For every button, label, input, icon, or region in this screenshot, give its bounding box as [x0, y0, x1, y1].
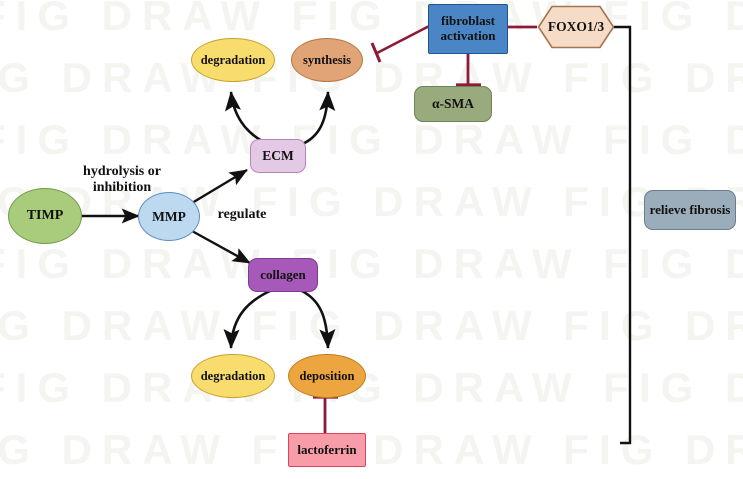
edge-ecm-to-synthesis [300, 92, 328, 145]
node-lactoferrin[interactable]: lactoferrin [288, 433, 366, 467]
node-ecm-degradation[interactable]: degradation [191, 38, 275, 82]
edge-label-regulate: regulate [206, 207, 278, 223]
node-ecm-synthesis[interactable]: synthesis [291, 38, 363, 82]
node-collagen-deposition[interactable]: deposition [288, 354, 366, 398]
node-fibroblast-activation-line1: fibroblast [441, 14, 495, 29]
node-ecm-degradation-label: degradation [201, 53, 266, 67]
edge-label-hydrolysis-inhibition: hydrolysis or inhibition [62, 164, 182, 196]
edge-label-regulate-text: regulate [218, 207, 267, 222]
watermark-row: FIG DRAW FIG DRAW FIG DRAW FIG DRAW FIG … [0, 54, 743, 102]
node-timp[interactable]: TIMP [8, 188, 82, 244]
node-relieve-fibrosis-label: relieve fibrosis [650, 203, 731, 218]
node-mmp[interactable]: MMP [138, 192, 200, 241]
node-lactoferrin-label: lactoferrin [297, 443, 356, 458]
node-collagen-degradation-label: degradation [201, 369, 266, 383]
diagram-canvas: FIG DRAW FIG DRAW FIG DRAW FIG DRAW FIG … [0, 0, 743, 479]
node-ecm-label: ECM [262, 148, 294, 163]
node-ecm[interactable]: ECM [250, 139, 306, 173]
watermark-row: FIG DRAW FIG DRAW FIG DRAW FIG DRAW FIG … [0, 426, 743, 474]
node-asma-label: α-SMA [432, 96, 474, 111]
node-fibroblast-activation-line2: activation [441, 29, 496, 44]
edge-fibroblast-inhibits-asma [456, 53, 481, 85]
edge-mmp-to-collagen [192, 231, 250, 263]
edge-foxo-to-relieve-fibrosis [613, 27, 630, 443]
edge-ecm-to-degradation [231, 92, 271, 145]
watermark-row: FIG DRAW FIG DRAW FIG DRAW FIG DRAW FIG … [0, 240, 743, 288]
node-relieve-fibrosis[interactable]: relieve fibrosis [644, 190, 736, 230]
edge-mmp-to-ecm [192, 170, 247, 203]
edge-collagen-to-deposition [300, 290, 328, 348]
watermark-layer: FIG DRAW FIG DRAW FIG DRAW FIG DRAW FIG … [0, 0, 743, 479]
edge-lactoferrin-inhibits-deposition [313, 397, 338, 433]
node-collagen-deposition-label: deposition [300, 369, 355, 383]
edge-label-line2: inhibition [62, 180, 182, 196]
watermark-row: FIG DRAW FIG DRAW FIG DRAW FIG DRAW FIG … [0, 364, 743, 412]
node-foxo13[interactable]: FOXO1/3 [537, 5, 615, 49]
node-ecm-synthesis-label: synthesis [303, 53, 351, 67]
watermark-row: FIG DRAW FIG DRAW FIG DRAW FIG DRAW FIG … [0, 116, 743, 164]
node-asma[interactable]: α-SMA [414, 86, 492, 122]
node-fibroblast-activation[interactable]: fibroblast activation [428, 4, 508, 54]
node-collagen-label: collagen [260, 268, 306, 283]
node-timp-label: TIMP [27, 208, 64, 224]
node-foxo13-label: FOXO1/3 [548, 19, 604, 34]
watermark-row: FIG DRAW FIG DRAW FIG DRAW FIG DRAW FIG … [0, 302, 743, 350]
edge-label-line1: hydrolysis or [62, 164, 182, 180]
edge-collagen-to-degradation [231, 290, 272, 348]
node-mmp-label: MMP [152, 209, 186, 224]
watermark-row: FIG DRAW FIG DRAW FIG DRAW FIG DRAW FIG … [0, 0, 743, 40]
edge-layer [0, 0, 743, 479]
node-collagen[interactable]: collagen [248, 258, 318, 292]
node-collagen-degradation[interactable]: degradation [191, 354, 275, 398]
